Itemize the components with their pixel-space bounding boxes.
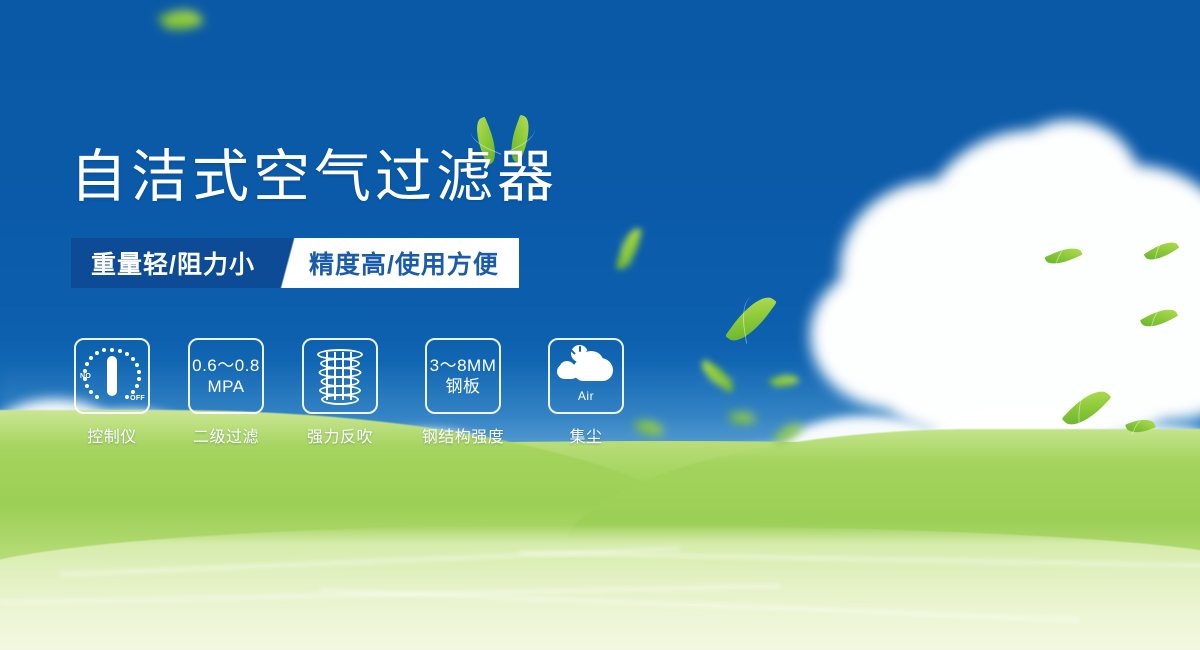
feature-caption: 控制仪 bbox=[87, 423, 137, 447]
cloud-air-icon bbox=[557, 345, 615, 385]
control-dial-icon: NO OFF bbox=[81, 347, 143, 405]
banner-stage: 自洁式空气过滤器 重量轻/阻力小 精度高/使用方便 bbox=[0, 0, 1200, 650]
subtitle-badge-divider bbox=[277, 238, 303, 288]
feature-list: NO OFF 控制仪 0.6～0.8 MPA 二级过滤 bbox=[73, 338, 625, 447]
dial-needle bbox=[107, 356, 117, 396]
page-title: 自洁式空气过滤器 bbox=[70, 143, 558, 211]
feature-caption: 集尘 bbox=[569, 423, 602, 447]
feature-icon-box: 3～8MM 钢板 bbox=[425, 338, 501, 414]
feature-icon-box: NO OFF bbox=[74, 338, 150, 414]
feature-caption: 钢结构强度 bbox=[422, 423, 505, 447]
floating-leaf bbox=[635, 421, 663, 436]
dial-on-label: NO bbox=[80, 373, 91, 380]
steel-value-line1: 3～8MM bbox=[430, 355, 497, 376]
pressure-value-line2: MPA bbox=[207, 376, 244, 397]
subtitle-badge-secondary: 精度高/使用方便 bbox=[303, 238, 519, 288]
feature-icon-box: Air bbox=[548, 338, 624, 414]
feature-icon-box: 0.6～0.8 MPA bbox=[188, 338, 264, 414]
feature-item-backblow[interactable]: 强力反吹 bbox=[301, 338, 379, 447]
subtitle-badge-bar: 重量轻/阻力小 精度高/使用方便 bbox=[71, 238, 519, 288]
feature-icon-box bbox=[302, 338, 378, 414]
feature-item-control-dial[interactable]: NO OFF 控制仪 bbox=[73, 338, 151, 447]
feature-caption: 强力反吹 bbox=[307, 423, 373, 447]
feature-item-pressure[interactable]: 0.6～0.8 MPA 二级过滤 bbox=[187, 338, 265, 447]
air-label: Air bbox=[578, 386, 594, 407]
coil-filter-icon bbox=[317, 349, 363, 403]
steel-value-line2: 钢板 bbox=[446, 376, 481, 397]
feature-item-steel[interactable]: 3～8MM 钢板 钢结构强度 bbox=[415, 338, 511, 447]
feature-caption: 二级过滤 bbox=[193, 423, 259, 447]
dial-off-label: OFF bbox=[130, 395, 145, 402]
pressure-value-line1: 0.6～0.8 bbox=[192, 355, 260, 376]
feature-item-dust[interactable]: Air 集尘 bbox=[547, 338, 625, 447]
subtitle-badge-primary: 重量轻/阻力小 bbox=[71, 238, 277, 288]
